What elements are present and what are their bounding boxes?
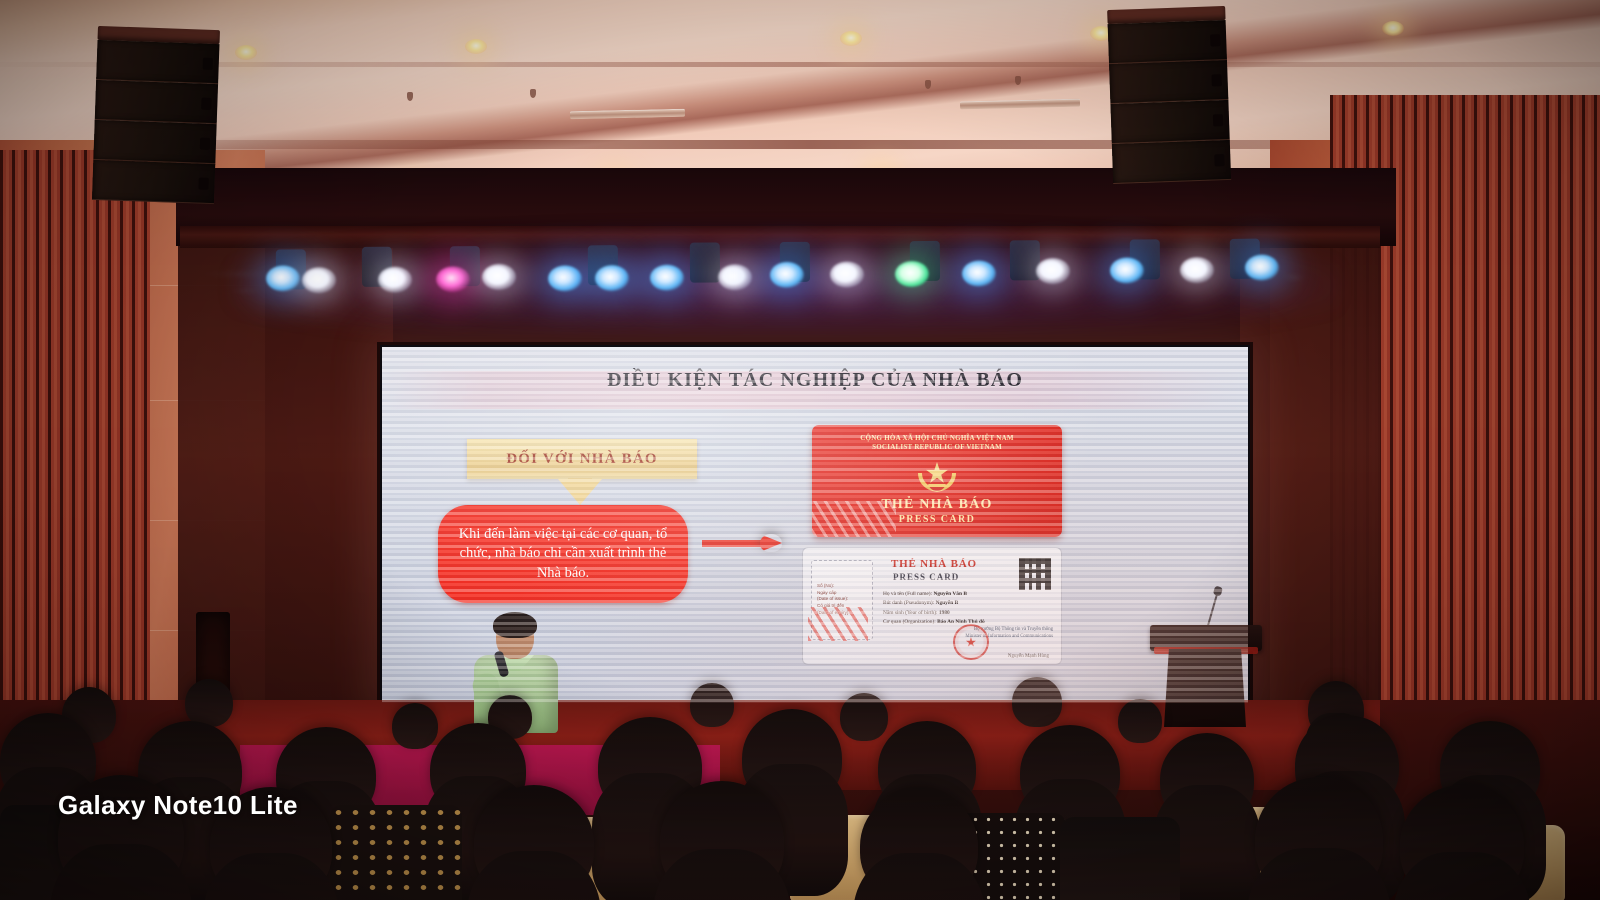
sprinkler-head — [925, 80, 931, 89]
vietnam-national-emblem-icon — [914, 459, 960, 495]
ceiling-downlight — [1382, 21, 1404, 36]
stage-light — [718, 264, 752, 290]
field-value: Báo An Ninh Thủ đô — [937, 619, 985, 625]
stage-light — [378, 267, 412, 293]
ceiling-downlight — [840, 31, 862, 46]
seal-star-icon: ★ — [965, 636, 977, 649]
stage-light-bar — [250, 236, 1310, 313]
audience-torso — [1060, 817, 1180, 900]
line-array-speaker-left — [92, 26, 220, 202]
press-card-photo-box: Số (No): Ngày cấp (Date of issue): Có gi… — [811, 560, 873, 640]
press-card-back: THẺ NHÀ BÁO PRESS CARD Số (No): Ngày cấp… — [802, 547, 1062, 665]
moving-head-fixture — [1010, 240, 1040, 280]
qr-code-icon — [1019, 558, 1051, 590]
arrow-shaft — [702, 540, 764, 547]
sprinkler-head — [407, 92, 413, 101]
red-callout-bubble: Khi đến làm việc tại các cơ quan, tổ chứ… — [438, 505, 688, 603]
audience-head — [690, 683, 734, 727]
stage-light — [302, 267, 336, 293]
red-right-arrow-icon — [702, 537, 784, 549]
slide-title: ĐIỀU KIỆN TÁC NGHIỆP CỦA NHÀ BÁO — [382, 369, 1248, 392]
speaker-cabinet — [95, 80, 218, 124]
press-card-diagonal-stripes — [812, 501, 896, 537]
stage-light — [436, 266, 470, 292]
gold-banner: ĐỐI VỚI NHÀ BÁO — [467, 439, 697, 479]
conference-hall-photo: ĐIỀU KIỆN TÁC NGHIỆP CỦA NHÀ BÁO ĐỐI VỚI… — [0, 0, 1600, 900]
audience-head-front — [660, 781, 784, 900]
audience-head — [1118, 699, 1162, 743]
field-value: 1980 — [939, 610, 950, 616]
ceiling-downlight — [465, 39, 487, 54]
authority-vi: Bộ trưởng Bộ Thông tin và Truyền thông — [923, 626, 1053, 633]
audience-torso — [330, 805, 462, 900]
stage-light — [1036, 258, 1070, 284]
audience-head — [185, 679, 233, 727]
press-card-back-title-en: PRESS CARD — [893, 572, 959, 582]
arrow-head — [760, 534, 782, 552]
speaker-cabinet — [1108, 20, 1227, 64]
speaker-cabinet — [1109, 60, 1228, 104]
speaker-cabinet — [1110, 100, 1229, 144]
press-card-field-row: Họ và tên (Full name): Nguyễn Văn B — [883, 590, 1033, 599]
stage-light — [595, 265, 629, 291]
press-card-fields: Họ và tên (Full name): Nguyễn Văn B Bút … — [883, 590, 1033, 627]
sprinkler-head — [530, 89, 536, 98]
nation-line-vi: CỘNG HÒA XÃ HỘI CHỦ NGHĨA VIỆT NAM — [812, 434, 1062, 443]
sprinkler-head — [1015, 76, 1021, 85]
speaker-cabinet — [93, 120, 216, 164]
gold-down-arrow-icon — [558, 479, 602, 505]
stage-light — [482, 264, 516, 290]
field-label: Bút danh (Pseudonym): — [883, 600, 934, 606]
audience-head-front — [1255, 777, 1383, 900]
audience-head-front — [474, 785, 594, 900]
field-value: Nguyễn Văn B — [933, 591, 966, 597]
speaker-cabinet — [92, 160, 215, 204]
audience-head — [392, 703, 438, 749]
stage-light — [1245, 255, 1279, 281]
audience-head-front — [860, 789, 978, 900]
speaker-cabinet — [96, 40, 219, 84]
stage-light — [1180, 257, 1214, 283]
audience-head-front — [1400, 785, 1524, 900]
gold-banner-label: ĐỐI VỚI NHÀ BÁO — [506, 451, 658, 468]
camera-watermark: Galaxy Note10 Lite — [58, 790, 298, 821]
press-card-field-row: Bút danh (Pseudonym): Nguyễn B — [883, 599, 1033, 608]
audience-head — [1012, 677, 1062, 727]
speaker-cabinet — [1112, 140, 1231, 184]
stage-light — [650, 265, 684, 291]
nation-line-en: SOCIALIST REPUBLIC OF VIETNAM — [812, 443, 1062, 452]
ceiling-soffit-band-1 — [0, 62, 1600, 67]
audience-head — [1160, 733, 1254, 825]
stage-light — [962, 260, 996, 286]
field-value: Nguyễn B — [936, 600, 959, 606]
audience-head — [1020, 725, 1120, 821]
press-card-photo-stripes — [808, 607, 868, 641]
line-array-speaker-right — [1107, 6, 1231, 175]
stage-light — [548, 265, 582, 291]
field-label: Họ và tên (Full name): — [883, 591, 932, 597]
press-card-back-title-vi: THẺ NHÀ BÁO — [891, 558, 977, 570]
stage-light — [830, 261, 864, 287]
stage-light — [266, 265, 300, 291]
stage-light — [895, 261, 929, 287]
ceiling-downlight — [235, 45, 257, 60]
audience — [0, 655, 1600, 900]
press-card-nation-block: CỘNG HÒA XÃ HỘI CHỦ NGHĨA VIỆT NAM SOCIA… — [812, 434, 1062, 453]
bubble-text: Khi đến làm việc tại các cơ quan, tổ chứ… — [438, 525, 688, 582]
press-card-front: CỘNG HÒA XÃ HỘI CHỦ NGHĨA VIỆT NAM SOCIA… — [812, 425, 1062, 537]
presenter-hair — [493, 612, 537, 638]
press-card-field-row: Năm sinh (Year of birth): 1980 — [883, 609, 1033, 618]
field-label: Năm sinh (Year of birth): — [883, 610, 938, 616]
field-label: Cơ quan (Organization): — [883, 619, 936, 625]
audience-head — [840, 693, 888, 741]
stage-light — [770, 262, 804, 288]
moving-head-fixture — [690, 242, 720, 282]
stage-light — [1110, 257, 1144, 283]
